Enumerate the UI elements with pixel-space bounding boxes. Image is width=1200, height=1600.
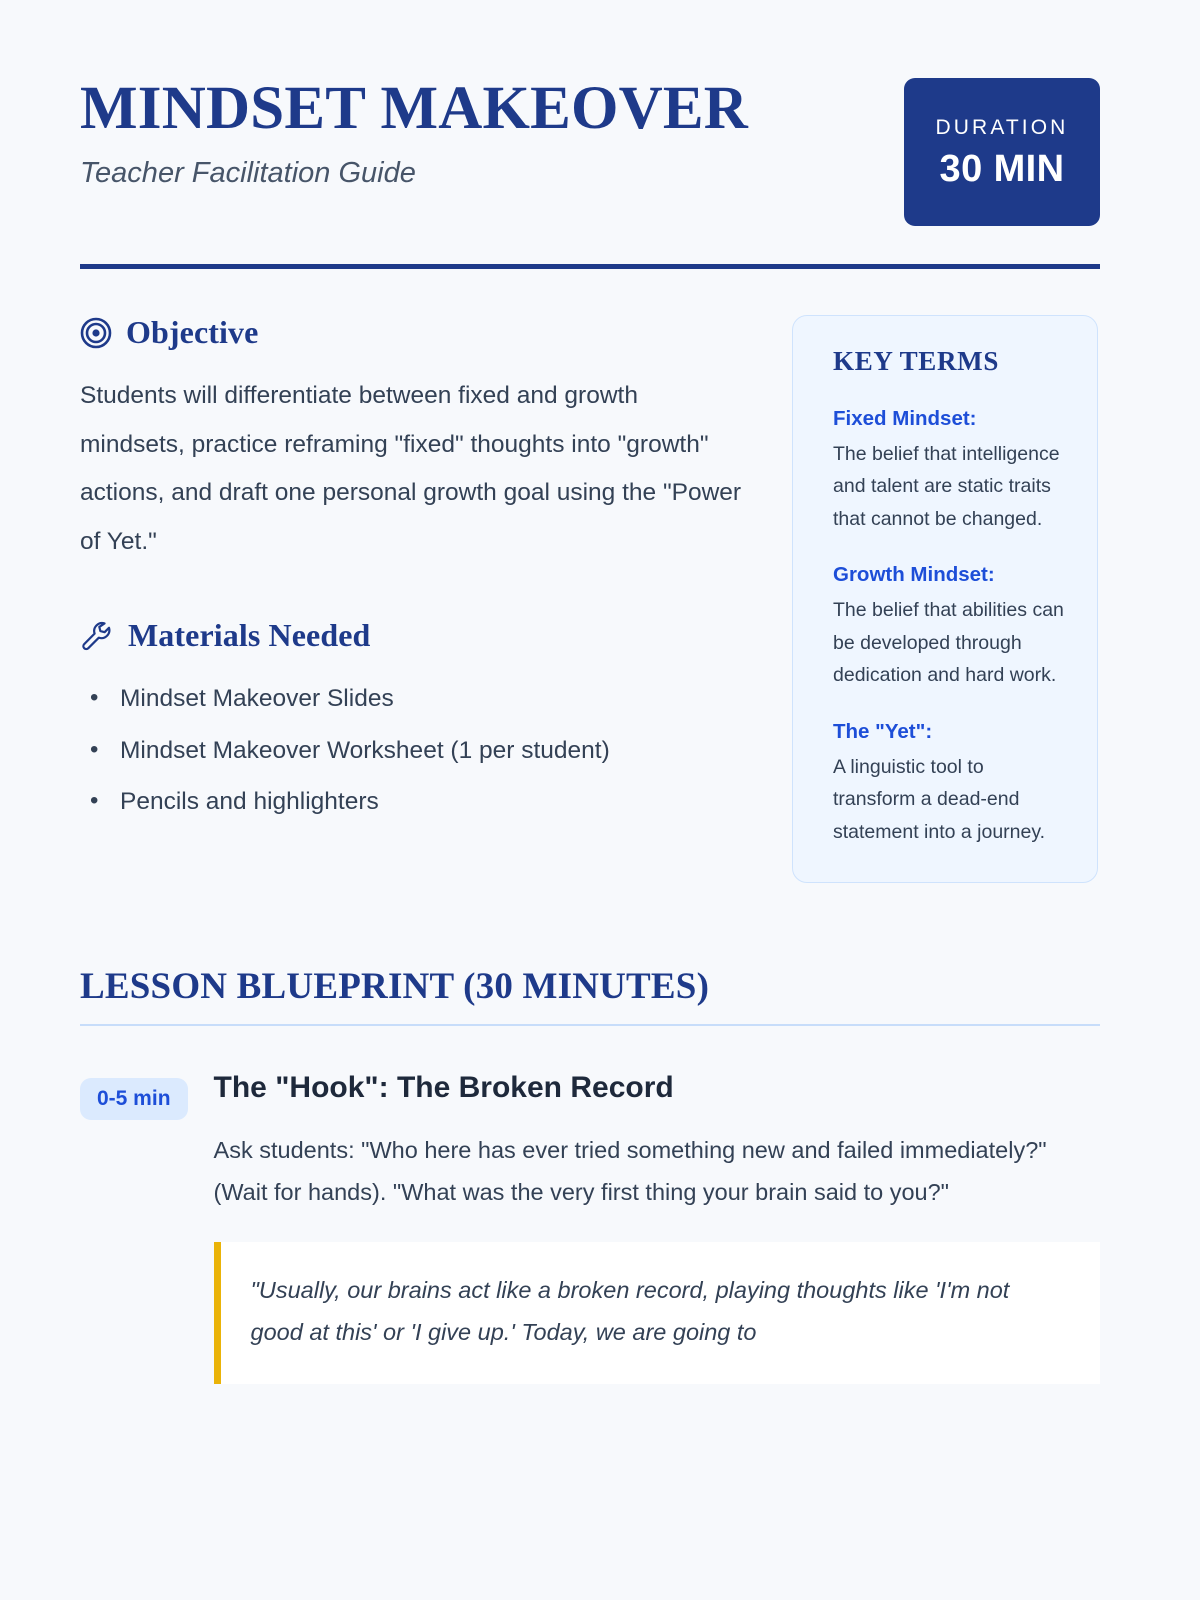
script-quote-box: "Usually, our brains act like a broken r…: [214, 1242, 1100, 1384]
step-body: The "Hook": The Broken Record Ask studen…: [214, 1070, 1100, 1383]
list-item: Mindset Makeover Worksheet (1 per studen…: [80, 727, 746, 774]
list-item: Pencils and highlighters: [80, 778, 746, 825]
step-title: The "Hook": The Broken Record: [214, 1070, 1100, 1106]
header-divider: [80, 264, 1100, 269]
materials-section: Materials Needed Mindset Makeover Slides…: [80, 618, 746, 825]
main-content: Objective Students will differentiate be…: [80, 315, 1100, 883]
duration-label: DURATION: [936, 117, 1069, 138]
key-term-entry: The "Yet": A linguistic tool to transfor…: [833, 716, 1069, 848]
step-time-badge: 0-5 min: [80, 1078, 188, 1119]
key-term-entry: Fixed Mindset: The belief that intellige…: [833, 403, 1069, 535]
header-title-group: MINDSET MAKEOVER Teacher Facilitation Gu…: [80, 70, 748, 191]
materials-list: Mindset Makeover Slides Mindset Makeover…: [80, 675, 746, 825]
facilitation-guide-page: MINDSET MAKEOVER Teacher Facilitation Gu…: [0, 0, 1200, 1384]
materials-heading-label: Materials Needed: [128, 618, 370, 653]
wrench-icon: [80, 620, 114, 652]
key-term-name: Fixed Mindset:: [833, 403, 1069, 436]
key-term-entry: Growth Mindset: The belief that abilitie…: [833, 559, 1069, 691]
key-terms-title: KEY TERMS: [833, 346, 1069, 377]
objective-section: Objective Students will differentiate be…: [80, 315, 746, 566]
objective-text: Students will differentiate between fixe…: [80, 372, 746, 566]
target-icon: [80, 317, 112, 349]
page-title: MINDSET MAKEOVER: [80, 78, 748, 140]
script-quote-text: "Usually, our brains act like a broken r…: [251, 1270, 1068, 1354]
objective-heading: Objective: [80, 315, 746, 350]
blueprint-divider: [80, 1024, 1100, 1026]
left-column: Objective Students will differentiate be…: [80, 315, 746, 829]
key-term-definition: The belief that intelligence and talent …: [833, 438, 1069, 536]
lesson-blueprint-section: LESSON BLUEPRINT (30 MINUTES) 0-5 min Th…: [80, 965, 1100, 1383]
list-item: Mindset Makeover Slides: [80, 675, 746, 722]
key-terms-panel: KEY TERMS Fixed Mindset: The belief that…: [792, 315, 1098, 883]
key-term-definition: A linguistic tool to transform a dead-en…: [833, 751, 1069, 849]
step-description: Ask students: "Who here has ever tried s…: [214, 1130, 1100, 1214]
page-subtitle: Teacher Facilitation Guide: [80, 156, 748, 191]
materials-heading: Materials Needed: [80, 618, 746, 653]
key-term-name: The "Yet":: [833, 716, 1069, 749]
key-term-name: Growth Mindset:: [833, 559, 1069, 592]
duration-value: 30 MIN: [940, 150, 1065, 188]
blueprint-title: LESSON BLUEPRINT (30 MINUTES): [80, 965, 1100, 1008]
key-term-definition: The belief that abilities can be develop…: [833, 594, 1069, 692]
lesson-step: 0-5 min The "Hook": The Broken Record As…: [80, 1070, 1100, 1383]
page-header: MINDSET MAKEOVER Teacher Facilitation Gu…: [80, 70, 1100, 226]
objective-heading-label: Objective: [126, 315, 258, 350]
right-column: KEY TERMS Fixed Mindset: The belief that…: [792, 315, 1098, 883]
duration-badge: DURATION 30 MIN: [904, 78, 1100, 226]
